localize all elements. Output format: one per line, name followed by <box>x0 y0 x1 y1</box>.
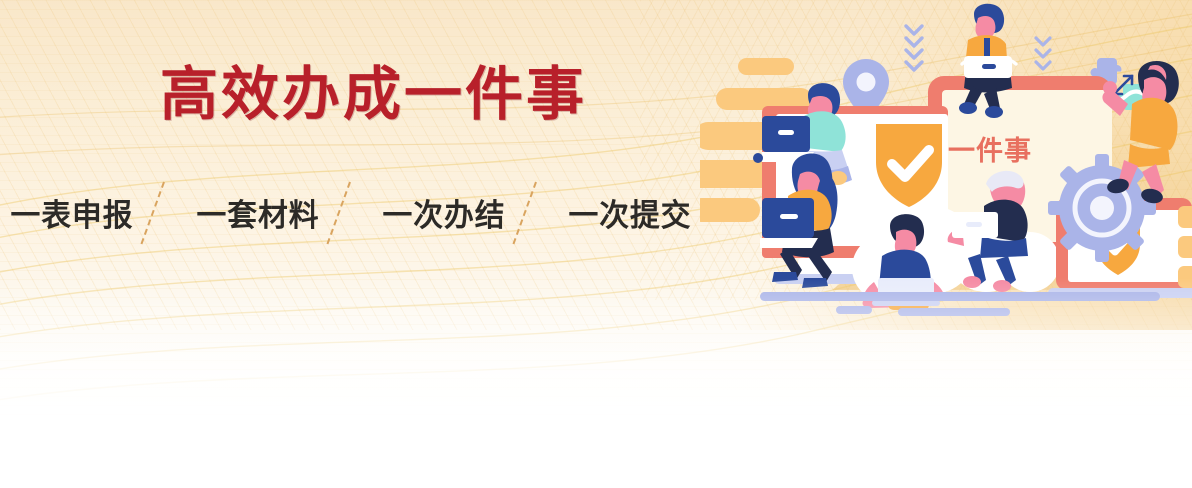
subtitle-item-2: 一套材料 <box>197 195 320 237</box>
subtitle-row: 一表申报 一套材料 一次办结 一次提交 <box>8 186 694 246</box>
orange-tabs <box>1178 206 1192 288</box>
subtitle-separator-1 <box>136 186 194 246</box>
subtitle-item-4: 一次提交 <box>569 195 692 237</box>
subtitle-separator-2 <box>322 186 380 246</box>
subtitle-item-3: 一次办结 <box>383 195 506 237</box>
page-title: 高效办成一件事 <box>160 62 587 128</box>
background-bottom-fade <box>0 278 1192 488</box>
hero-illustration: 一件事 <box>700 0 1192 320</box>
chevron-arrows-left-icon <box>906 26 922 70</box>
chevron-arrows-right-icon <box>1036 38 1050 69</box>
person-climbing-gear <box>1102 61 1178 205</box>
gear-large-icon <box>1048 154 1156 262</box>
subtitle-item-1: 一表申报 <box>11 195 134 237</box>
illustration-svg: 一件事 <box>700 0 1192 320</box>
screen-label: 一件事 <box>948 136 1032 166</box>
subtitle-separator-3 <box>508 186 566 246</box>
banner-root: 高效办成一件事 一表申报 一套材料 一次办结 一次提交 <box>0 0 1192 488</box>
